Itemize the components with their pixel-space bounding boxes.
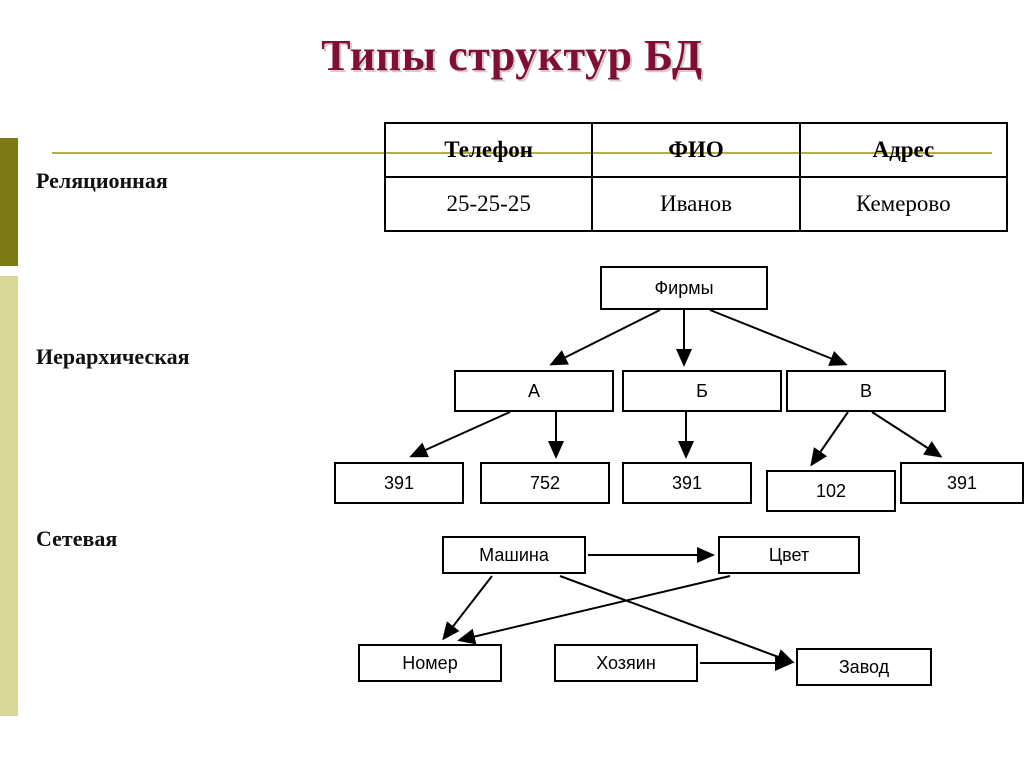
node-b: Б xyxy=(622,370,782,412)
node-color: Цвет xyxy=(718,536,860,574)
section-label-relational: Реляционная xyxy=(36,168,168,194)
table-header-cell: ФИО xyxy=(592,123,799,177)
table-header-cell: Адрес xyxy=(800,123,1007,177)
section-label-network: Сетевая xyxy=(36,526,117,552)
node-firms: Фирмы xyxy=(600,266,768,310)
node-leaf-5: 391 xyxy=(900,462,1024,504)
relational-table: Телефон ФИО Адрес 25-25-25 Иванов Кемеро… xyxy=(384,122,1008,232)
node-plant: Завод xyxy=(796,648,932,686)
node-leaf-1: 391 xyxy=(334,462,464,504)
table-cell: Иванов xyxy=(592,177,799,231)
node-machine: Машина xyxy=(442,536,586,574)
node-a: А xyxy=(454,370,614,412)
node-leaf-3: 391 xyxy=(622,462,752,504)
node-number: Номер xyxy=(358,644,502,682)
node-v: В xyxy=(786,370,946,412)
table-header-row: Телефон ФИО Адрес xyxy=(385,123,1007,177)
node-leaf-4: 102 xyxy=(766,470,896,512)
node-owner: Хозяин xyxy=(554,644,698,682)
page-title: Типы структур БД xyxy=(0,30,1024,81)
node-leaf-2: 752 xyxy=(480,462,610,504)
section-label-hierarchical: Иерархическая xyxy=(36,344,189,370)
table-cell: 25-25-25 xyxy=(385,177,592,231)
left-accent-bar-light xyxy=(0,276,18,716)
table-row: 25-25-25 Иванов Кемерово xyxy=(385,177,1007,231)
left-accent-bar-dark xyxy=(0,138,18,266)
table-header-cell: Телефон xyxy=(385,123,592,177)
table-cell: Кемерово xyxy=(800,177,1007,231)
